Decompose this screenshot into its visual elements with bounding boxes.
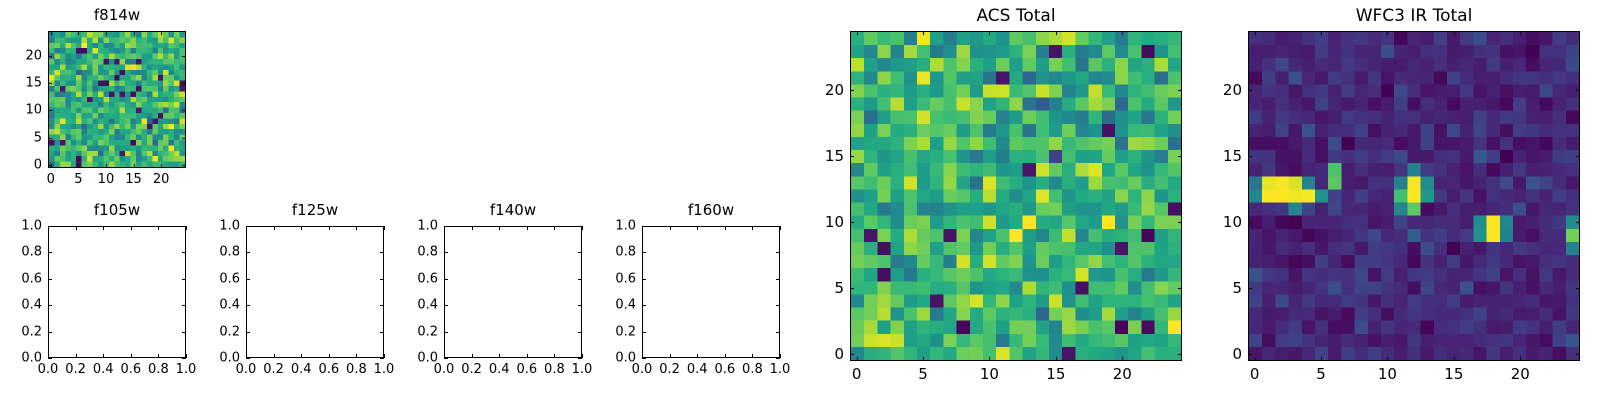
xtick-mark — [725, 354, 726, 358]
xtick-mark-top — [1321, 31, 1322, 35]
ytick-label: 10 — [0, 103, 42, 118]
xtick-mark-top — [923, 31, 924, 35]
xtick-label: 0.6 — [714, 362, 735, 377]
xtick-mark — [752, 354, 753, 358]
ytick-label: 15 — [0, 76, 42, 91]
xtick-mark-top — [131, 226, 132, 230]
ytick-label: 0.2 — [182, 324, 240, 339]
ytick-mark-right — [1576, 288, 1580, 289]
ytick-mark-right — [1576, 90, 1580, 91]
ytick-mark — [1248, 354, 1252, 355]
xtick-label: 0.2 — [461, 362, 482, 377]
ytick-mark — [444, 252, 448, 253]
ytick-label: 0.6 — [578, 271, 636, 286]
ytick-label: 0.6 — [380, 271, 438, 286]
ytick-mark-right — [1576, 354, 1580, 355]
ytick-mark — [48, 305, 52, 306]
xtick-label: 0.4 — [291, 362, 312, 377]
panel-title-f814w: f814w — [0, 6, 267, 24]
ytick-label: 0.0 — [380, 351, 438, 366]
xtick-label: 0.2 — [65, 362, 86, 377]
ytick-mark — [444, 226, 448, 227]
ytick-mark-right — [1178, 90, 1182, 91]
ytick-label: 0.6 — [182, 271, 240, 286]
ytick-mark — [48, 358, 52, 359]
xtick-mark-top — [78, 31, 79, 35]
xtick-mark — [134, 164, 135, 168]
ytick-mark — [850, 90, 854, 91]
xtick-mark-top — [1454, 31, 1455, 35]
xtick-mark-top — [1387, 31, 1388, 35]
ytick-mark — [48, 165, 52, 166]
ytick-label: 20 — [0, 48, 42, 63]
ytick-mark-right — [182, 83, 186, 84]
ytick-label: 0.0 — [0, 351, 42, 366]
xtick-mark — [76, 354, 77, 358]
ytick-label: 0.4 — [380, 298, 438, 313]
xtick-mark-top — [697, 226, 698, 230]
ytick-label: 0.2 — [380, 324, 438, 339]
ytick-mark — [48, 83, 52, 84]
xtick-label: 0.8 — [148, 362, 169, 377]
xtick-label: 0.6 — [516, 362, 537, 377]
ytick-mark-right — [1576, 156, 1580, 157]
ytick-mark — [1248, 222, 1252, 223]
ytick-mark-right — [1178, 288, 1182, 289]
ytick-mark — [642, 226, 646, 227]
xtick-label: 0.8 — [544, 362, 565, 377]
ytick-mark — [246, 252, 250, 253]
ytick-label: 0.8 — [578, 245, 636, 260]
xtick-mark — [1454, 357, 1455, 361]
ytick-mark — [850, 354, 854, 355]
ytick-mark — [48, 56, 52, 57]
xtick-mark-top — [301, 226, 302, 230]
ytick-mark — [246, 279, 250, 280]
ytick-mark — [642, 358, 646, 359]
axes-f140w — [444, 226, 582, 358]
ytick-mark-right — [1178, 222, 1182, 223]
xtick-mark — [1520, 357, 1521, 361]
ytick-label: 0.2 — [578, 324, 636, 339]
ytick-label: 10 — [786, 213, 844, 231]
xtick-mark-top — [103, 226, 104, 230]
xtick-mark-top — [134, 31, 135, 35]
ytick-label: 5 — [786, 279, 844, 297]
xtick-mark-top — [158, 226, 159, 230]
ytick-mark — [850, 222, 854, 223]
heatmap-acs_total — [851, 32, 1181, 360]
xtick-label: 0.8 — [742, 362, 763, 377]
axes-acs_total — [850, 31, 1182, 361]
xtick-mark-top — [472, 226, 473, 230]
axes-f125w — [246, 226, 384, 358]
ytick-label: 1.0 — [0, 219, 42, 234]
ytick-label: 0.4 — [0, 298, 42, 313]
ytick-mark-right — [182, 110, 186, 111]
xtick-mark-top — [780, 226, 781, 230]
xtick-label: 0 — [47, 172, 55, 187]
ytick-label: 0.0 — [182, 351, 240, 366]
ytick-mark-right — [776, 279, 780, 280]
ytick-mark — [246, 358, 250, 359]
xtick-label: 10 — [980, 365, 999, 383]
xtick-label: 0 — [1250, 365, 1260, 383]
xtick-label: 10 — [98, 172, 115, 187]
xtick-mark — [1056, 357, 1057, 361]
ytick-label: 0.8 — [0, 245, 42, 260]
ytick-label: 0.6 — [0, 271, 42, 286]
ytick-mark-right — [776, 305, 780, 306]
xtick-mark — [274, 354, 275, 358]
xtick-mark-top — [329, 226, 330, 230]
ytick-mark — [642, 305, 646, 306]
xtick-mark — [356, 354, 357, 358]
axes-f160w — [642, 226, 780, 358]
xtick-label: 0.6 — [318, 362, 339, 377]
xtick-mark — [301, 354, 302, 358]
ytick-label: 5 — [1184, 279, 1242, 297]
xtick-label: 0.8 — [346, 362, 367, 377]
ytick-mark — [850, 156, 854, 157]
xtick-label: 5 — [1316, 365, 1326, 383]
xtick-label: 0.4 — [687, 362, 708, 377]
xtick-label: 0 — [852, 365, 862, 383]
ytick-label: 0.8 — [182, 245, 240, 260]
ytick-label: 20 — [1184, 81, 1242, 99]
xtick-label: 20 — [1511, 365, 1530, 383]
xtick-mark — [670, 354, 671, 358]
ytick-mark — [246, 305, 250, 306]
xtick-mark-top — [527, 226, 528, 230]
xtick-label: 0.2 — [263, 362, 284, 377]
xtick-mark-top — [554, 226, 555, 230]
xtick-label: 1.0 — [770, 362, 791, 377]
xtick-mark-top — [76, 226, 77, 230]
ytick-mark — [850, 288, 854, 289]
xtick-label: 0.4 — [93, 362, 114, 377]
xtick-label: 20 — [153, 172, 170, 187]
ytick-mark — [48, 138, 52, 139]
ytick-mark — [48, 279, 52, 280]
ytick-mark — [1248, 288, 1252, 289]
xtick-label: 0.4 — [489, 362, 510, 377]
ytick-mark — [444, 358, 448, 359]
xtick-mark — [1122, 357, 1123, 361]
ytick-mark — [642, 332, 646, 333]
xtick-mark — [923, 357, 924, 361]
xtick-mark — [989, 357, 990, 361]
ytick-mark — [48, 226, 52, 227]
xtick-label: 15 — [1444, 365, 1463, 383]
xtick-mark-top — [670, 226, 671, 230]
ytick-label: 0 — [1184, 345, 1242, 363]
xtick-mark-top — [1122, 31, 1123, 35]
ytick-label: 1.0 — [578, 219, 636, 234]
xtick-mark — [1321, 357, 1322, 361]
ytick-label: 0.0 — [578, 351, 636, 366]
ytick-mark-right — [776, 358, 780, 359]
xtick-label: 0.2 — [659, 362, 680, 377]
xtick-label: 15 — [1046, 365, 1065, 383]
ytick-mark — [1248, 90, 1252, 91]
ytick-label: 5 — [0, 130, 42, 145]
xtick-mark — [158, 354, 159, 358]
ytick-mark-right — [1576, 222, 1580, 223]
heatmap-f814w — [49, 32, 185, 167]
ytick-mark-right — [1178, 354, 1182, 355]
axes-f814w — [48, 31, 186, 168]
ytick-mark — [444, 305, 448, 306]
xtick-mark — [527, 354, 528, 358]
xtick-mark — [697, 354, 698, 358]
axes-wfc3_ir_total — [1248, 31, 1580, 361]
ytick-mark-right — [776, 252, 780, 253]
xtick-mark — [857, 357, 858, 361]
ytick-mark-right — [182, 138, 186, 139]
xtick-label: 10 — [1378, 365, 1397, 383]
xtick-mark-top — [106, 31, 107, 35]
ytick-mark-right — [182, 56, 186, 57]
xtick-mark-top — [1255, 31, 1256, 35]
xtick-mark — [1255, 357, 1256, 361]
xtick-label: 5 — [74, 172, 82, 187]
ytick-mark — [246, 226, 250, 227]
xtick-mark — [554, 354, 555, 358]
ytick-mark-right — [776, 332, 780, 333]
ytick-label: 1.0 — [380, 219, 438, 234]
ytick-mark-right — [1178, 156, 1182, 157]
ytick-label: 15 — [1184, 147, 1242, 165]
ytick-mark — [1248, 156, 1252, 157]
ytick-label: 15 — [786, 147, 844, 165]
xtick-mark-top — [356, 226, 357, 230]
ytick-label: 0 — [786, 345, 844, 363]
ytick-label: 0.8 — [380, 245, 438, 260]
xtick-mark-top — [857, 31, 858, 35]
ytick-label: 0.4 — [578, 298, 636, 313]
xtick-mark-top — [1520, 31, 1521, 35]
xtick-mark-top — [274, 226, 275, 230]
xtick-mark — [780, 354, 781, 358]
xtick-label: 20 — [1113, 365, 1132, 383]
xtick-mark-top — [499, 226, 500, 230]
xtick-mark — [78, 164, 79, 168]
ytick-mark — [246, 332, 250, 333]
xtick-mark — [103, 354, 104, 358]
panel-title-acs_total: ACS Total — [866, 6, 1166, 26]
ytick-label: 1.0 — [182, 219, 240, 234]
ytick-label: 20 — [786, 81, 844, 99]
xtick-mark-top — [752, 226, 753, 230]
ytick-mark-right — [182, 165, 186, 166]
heatmap-wfc3_ir_total — [1249, 32, 1579, 360]
xtick-mark — [106, 164, 107, 168]
ytick-label: 0.4 — [182, 298, 240, 313]
xtick-mark — [472, 354, 473, 358]
ytick-label: 10 — [1184, 213, 1242, 231]
ytick-mark — [444, 332, 448, 333]
xtick-mark-top — [1056, 31, 1057, 35]
panel-title-wfc3_ir_total: WFC3 IR Total — [1264, 6, 1564, 26]
xtick-label: 15 — [125, 172, 142, 187]
ytick-mark — [642, 252, 646, 253]
ytick-mark — [48, 252, 52, 253]
ytick-mark — [48, 110, 52, 111]
ytick-mark — [48, 332, 52, 333]
xtick-mark-top — [989, 31, 990, 35]
ytick-mark — [642, 279, 646, 280]
xtick-label: 0.6 — [120, 362, 141, 377]
xtick-mark-top — [725, 226, 726, 230]
xtick-mark — [131, 354, 132, 358]
xtick-mark — [499, 354, 500, 358]
xtick-mark-top — [51, 31, 52, 35]
xtick-mark — [161, 164, 162, 168]
ytick-label: 0.2 — [0, 324, 42, 339]
xtick-label: 5 — [918, 365, 928, 383]
xtick-mark-top — [161, 31, 162, 35]
xtick-mark — [329, 354, 330, 358]
xtick-mark — [1387, 357, 1388, 361]
axes-f105w — [48, 226, 186, 358]
ytick-mark — [444, 279, 448, 280]
ytick-mark-right — [776, 226, 780, 227]
ytick-label: 0 — [0, 158, 42, 173]
